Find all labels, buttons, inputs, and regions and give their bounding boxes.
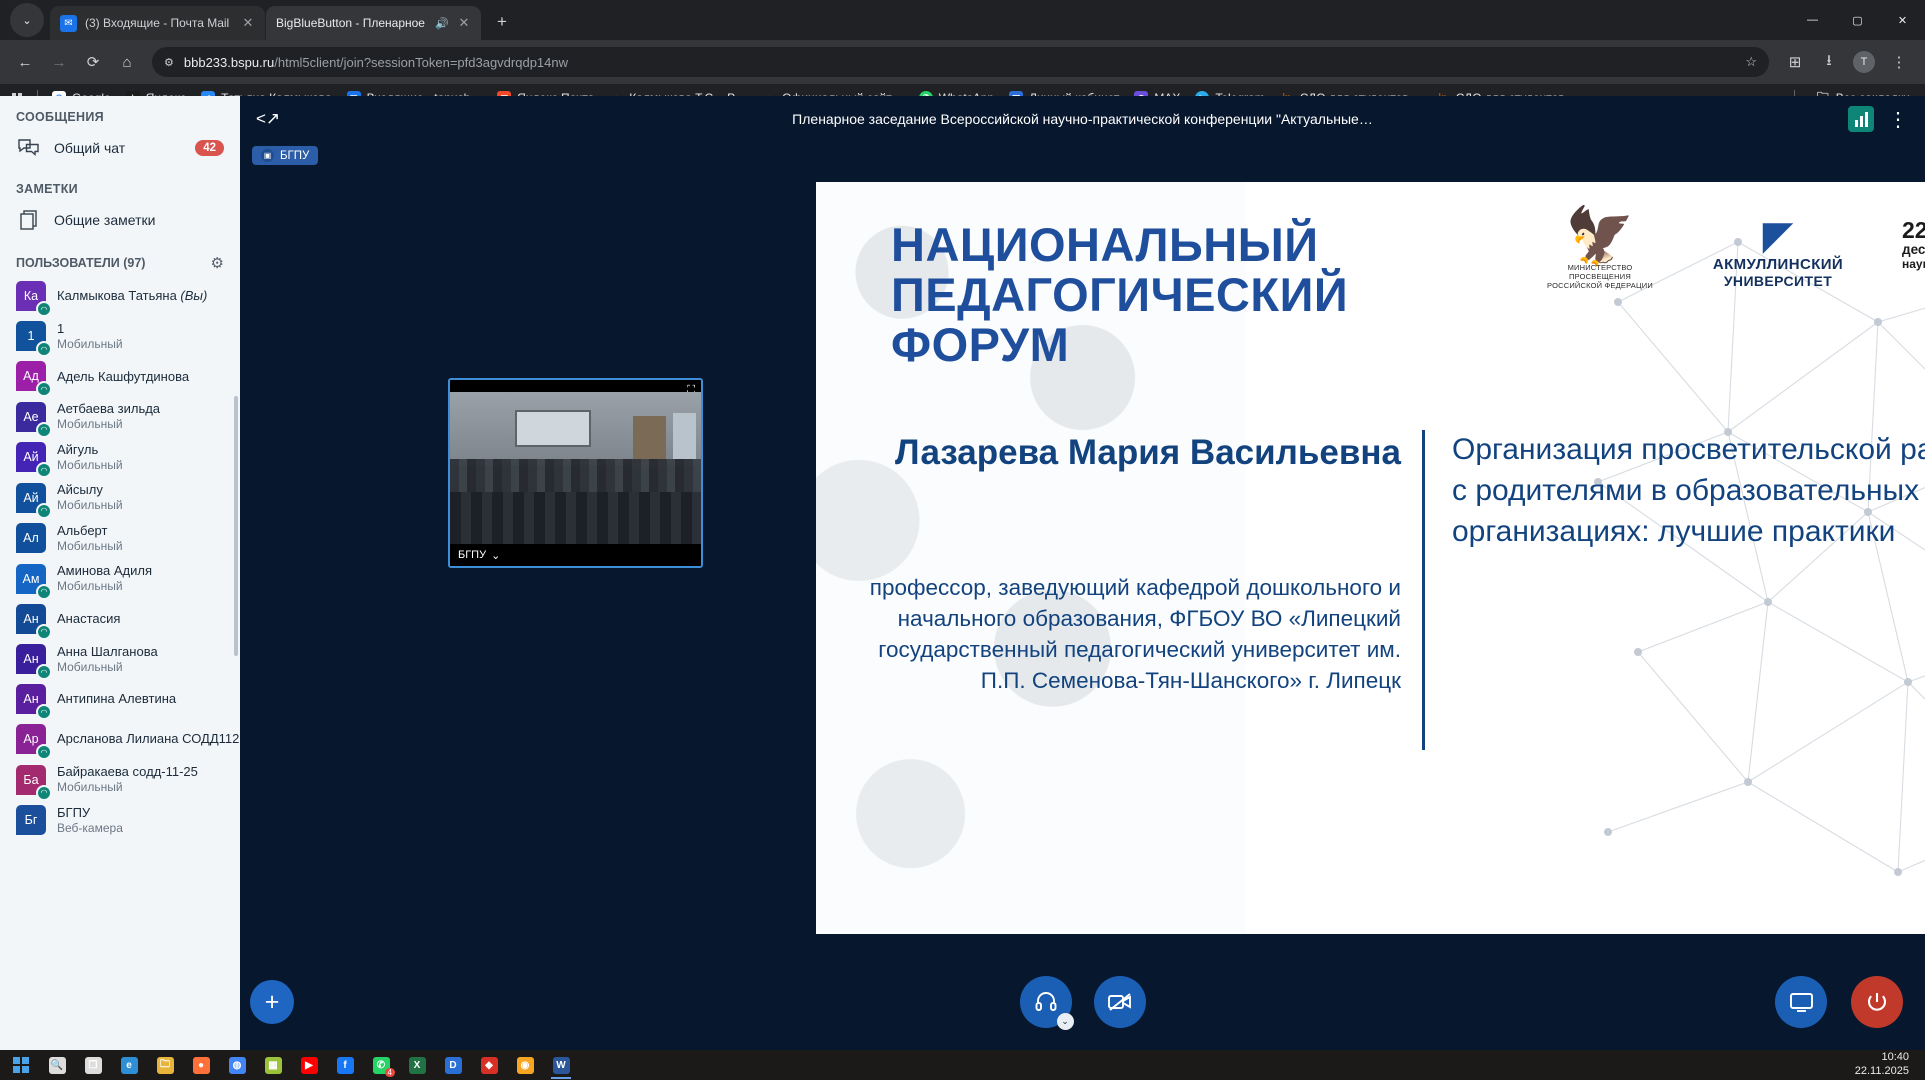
- search-icon-glyph: 🔍: [49, 1057, 66, 1074]
- tab-strip: ⌄ ✉ (3) Входящие - Почта Mail ✕ b BigBlu…: [0, 0, 1925, 40]
- user-info: Аетбаева зильдаМобильный: [57, 401, 160, 431]
- audio-button[interactable]: ⌄: [1020, 976, 1072, 1028]
- shared-notes-label: Общие заметки: [54, 212, 155, 228]
- decade-of-science-logo: 22 31 десятилетие науки и технологий: [1902, 210, 1925, 271]
- profile-avatar[interactable]: T: [1853, 51, 1875, 73]
- home-button[interactable]: ⌂: [112, 47, 142, 77]
- browser-icon[interactable]: ◉: [508, 1051, 542, 1079]
- user-info: Аминова АдиляМобильный: [57, 563, 152, 593]
- user-name: Антипина Алевтина: [57, 691, 176, 707]
- list-item[interactable]: Ай◠АйгульМобильный: [0, 437, 240, 477]
- sidebar-scrollbar[interactable]: [234, 396, 238, 656]
- presenter-name: БГПУ: [280, 150, 309, 162]
- unread-badge: 42: [195, 140, 224, 156]
- users-count-label: ПОЛЬЗОВАТЕЛИ (97): [16, 256, 145, 270]
- edge-icon[interactable]: e: [112, 1051, 146, 1079]
- browser-tab-bigbluebutton[interactable]: b BigBlueButton - Пленарное 🔊 ✕: [266, 6, 481, 40]
- akmulla-university-logo: ◤ АКМУЛЛИНСКИЙ УНИВЕРСИТЕТ: [1698, 210, 1858, 289]
- kebab-menu-icon[interactable]: ⋮: [1883, 47, 1915, 77]
- chat-bubbles-icon: [16, 135, 42, 161]
- user-info: Анна ШалгановаМобильный: [57, 644, 158, 674]
- excel-icon[interactable]: X: [400, 1051, 434, 1079]
- address-bar[interactable]: ⚙ bbb233.bspu.ru/html5client/join?sessio…: [152, 47, 1769, 77]
- user-name: Калмыкова Татьяна (Вы): [57, 288, 207, 304]
- list-item[interactable]: БгБГПУВеб-камера: [0, 800, 240, 840]
- chrome-icon-glyph: ◍: [229, 1057, 246, 1074]
- avatar: Ам◠: [16, 564, 46, 594]
- user-connection-type: Мобильный: [57, 417, 160, 432]
- list-item[interactable]: Ан◠Анастасия: [0, 599, 240, 639]
- browser-icon-glyph: ◉: [517, 1057, 534, 1074]
- new-tab-button[interactable]: +: [488, 8, 516, 36]
- headset-icon: ◠: [36, 341, 52, 357]
- user-info: БГПУВеб-камера: [57, 805, 123, 835]
- notes-section-header: ЗАМЕТКИ: [0, 168, 240, 200]
- youtube-icon-glyph: ▶: [301, 1057, 318, 1074]
- decade-line-1: десятилетие: [1902, 242, 1925, 257]
- camera-button[interactable]: [1094, 976, 1146, 1028]
- user-name: Айсылу: [57, 482, 123, 498]
- user-name: 1: [57, 321, 123, 337]
- list-item[interactable]: Ае◠Аетбаева зильдаМобильный: [0, 396, 240, 436]
- user-name: Аетбаева зильда: [57, 401, 160, 417]
- webcam-top-strip: [450, 380, 701, 392]
- avatar: Ае◠: [16, 402, 46, 432]
- decade-years: 22 31: [1902, 220, 1925, 242]
- slide-title-line-3: ФОРУМ: [891, 320, 1348, 370]
- user-self-suffix: (Вы): [177, 288, 208, 303]
- user-name: Адель Кашфутдинова: [57, 369, 189, 385]
- user-connection-type: Мобильный: [57, 579, 152, 594]
- avatar: Бг: [16, 805, 46, 835]
- list-item[interactable]: Ай◠АйсылуМобильный: [0, 477, 240, 517]
- sidebar-item-shared-notes[interactable]: Общие заметки: [0, 200, 240, 240]
- headset-icon: ◠: [36, 301, 52, 317]
- sidebar-item-public-chat[interactable]: Общий чат 42: [0, 128, 240, 168]
- excel-icon-glyph: X: [409, 1057, 426, 1074]
- whatsapp-icon[interactable]: ✆4: [364, 1051, 398, 1079]
- headset-icon: ◠: [36, 744, 52, 760]
- user-info: Калмыкова Татьяна (Вы): [57, 288, 207, 304]
- bookmark-star-icon[interactable]: ☆: [1745, 54, 1757, 70]
- user-connection-type: Мобильный: [57, 498, 123, 513]
- headset-icon: ◠: [36, 704, 52, 720]
- tab-close-icon[interactable]: ✕: [457, 15, 471, 31]
- headset-icon: ◠: [36, 624, 52, 640]
- public-chat-label: Общий чат: [54, 140, 125, 156]
- task-view-icon-glyph: ❐: [85, 1057, 102, 1074]
- slide-speaker-name: Лазарева Мария Васильевна: [876, 432, 1401, 474]
- screen-root: ⌄ ✉ (3) Входящие - Почта Mail ✕ b BigBlu…: [0, 0, 1925, 1080]
- facebook-icon[interactable]: f: [328, 1051, 362, 1079]
- right-controls: [1775, 976, 1903, 1028]
- forward-button[interactable]: →: [44, 47, 74, 77]
- user-info: АльбертМобильный: [57, 523, 123, 553]
- user-name: Байракаева содд-11-25: [57, 764, 198, 780]
- dialog-icon-glyph: D: [445, 1057, 462, 1074]
- unknown-app-icon[interactable]: ◆: [472, 1051, 506, 1079]
- headset-icon: ◠: [36, 584, 52, 600]
- presentation-toggle-icon[interactable]: <↗: [256, 109, 280, 129]
- bbb-action-bar: + ⌄: [240, 934, 1925, 1050]
- url-text: bbb233.bspu.ru/html5client/join?sessionT…: [184, 55, 568, 70]
- list-item[interactable]: Ка◠Калмыкова Татьяна (Вы): [0, 276, 240, 316]
- slide-title-line-1: НАЦИОНАЛЬНЫЙ: [891, 220, 1348, 270]
- back-button[interactable]: ←: [10, 47, 40, 77]
- topbar-left-group: <↗: [256, 109, 280, 129]
- user-list[interactable]: Ка◠Калмыкова Татьяна (Вы)1◠1МобильныйАд◠…: [0, 276, 240, 1050]
- edge-icon-glyph: e: [121, 1057, 138, 1074]
- webcam-tile[interactable]: ⛶ БГПУ ⌄: [448, 378, 703, 568]
- room-projector-screen: [515, 410, 590, 446]
- youtube-icon[interactable]: ▶: [292, 1051, 326, 1079]
- room-window: [673, 413, 696, 459]
- user-info: АйсылуМобильный: [57, 482, 123, 512]
- download-icon[interactable]: ⭳: [1813, 47, 1845, 77]
- slide-topic: Организация просветительской работы с ро…: [1452, 430, 1925, 552]
- slide-divider: [1422, 430, 1425, 750]
- slide-speaker-description: профессор, заведующий кафедрой дошкольно…: [856, 572, 1401, 696]
- list-item[interactable]: Ан◠Анна ШалгановаМобильный: [0, 639, 240, 679]
- clock-time: 10:40: [1855, 1051, 1909, 1065]
- user-connection-type: Мобильный: [57, 337, 123, 352]
- avatar: Ан◠: [16, 644, 46, 674]
- user-info: Анастасия: [57, 611, 120, 627]
- task-view-icon[interactable]: ❐: [76, 1051, 110, 1079]
- user-name: Альберт: [57, 523, 123, 539]
- presenter-icon: ▣: [261, 149, 274, 162]
- present-screen-button[interactable]: [1775, 976, 1827, 1028]
- webcam-video: [450, 392, 701, 544]
- maximize-button[interactable]: ▢: [1835, 3, 1880, 37]
- headset-icon: ◠: [36, 422, 52, 438]
- slide-logos: 🦅 МИНИСТЕРСТВО ПРОСВЕЩЕНИЯ РОССИЙСКОЙ ФЕ…: [1546, 210, 1925, 291]
- user-connection-type: Веб-камера: [57, 821, 123, 836]
- user-info: Антипина Алевтина: [57, 691, 176, 707]
- clock-date: 22.11.2025: [1855, 1065, 1909, 1079]
- avatar: Ка◠: [16, 281, 46, 311]
- user-info: Адель Кашфутдинова: [57, 369, 189, 385]
- avatar: Ар◠: [16, 724, 46, 754]
- ministry-caption: МИНИСТЕРСТВО ПРОСВЕЩЕНИЯ РОССИЙСКОЙ ФЕДЕ…: [1546, 264, 1654, 291]
- word-icon[interactable]: W: [544, 1051, 578, 1079]
- search-icon[interactable]: 🔍: [40, 1051, 74, 1079]
- avatar: Ай◠: [16, 442, 46, 472]
- bbb-stage: <↗ Пленарное заседание Всероссийской нау…: [240, 96, 1925, 1050]
- room-audience-front: [450, 492, 701, 544]
- topbar-right-group: ⋮: [1848, 106, 1909, 132]
- tab-title: (3) Входящие - Почта Mail: [85, 16, 233, 30]
- ministry-logo: 🦅 МИНИСТЕРСТВО ПРОСВЕЩЕНИЯ РОССИЙСКОЙ ФЕ…: [1546, 210, 1654, 291]
- mail-icon: ✉: [60, 15, 77, 32]
- window-controls: — ▢ ✕: [1790, 0, 1925, 40]
- bigbluebutton-app: СООБЩЕНИЯ Общий чат 42 ЗАМЕТКИ: [0, 96, 1925, 1050]
- list-item[interactable]: Ба◠Байракаева содд-11-25Мобильный: [0, 759, 240, 799]
- meeting-title: Пленарное заседание Всероссийской научно…: [240, 111, 1925, 127]
- slide-title: НАЦИОНАЛЬНЫЙ ПЕДАГОГИЧЕСКИЙ ФОРУМ: [891, 220, 1348, 369]
- minimize-button[interactable]: —: [1790, 3, 1835, 37]
- user-connection-type: Мобильный: [57, 660, 158, 675]
- akmulla-mark-icon: ◤: [1698, 216, 1858, 256]
- user-name: Арсланова Лилиана СОДД1125: [57, 731, 224, 747]
- bbb-sidebar: СООБЩЕНИЯ Общий чат 42 ЗАМЕТКИ: [0, 96, 240, 1050]
- start-button[interactable]: [4, 1051, 38, 1079]
- webcam-name-bar[interactable]: БГПУ ⌄: [450, 544, 701, 566]
- tab-search-chevron-icon[interactable]: ⌄: [10, 3, 44, 37]
- dialog-icon[interactable]: D: [436, 1051, 470, 1079]
- akmulla-line-2: УНИВЕРСИТЕТ: [1698, 273, 1858, 289]
- extensions-icon[interactable]: ⊞: [1779, 47, 1811, 77]
- slide-title-line-2: ПЕДАГОГИЧЕСКИЙ: [891, 270, 1348, 320]
- close-window-button[interactable]: ✕: [1880, 3, 1925, 37]
- akmulla-line-1: АКМУЛЛИНСКИЙ: [1698, 256, 1858, 273]
- taskbar-clock[interactable]: 10:40 22.11.2025: [1855, 1051, 1921, 1079]
- presenter-pill: ▣ БГПУ: [252, 146, 318, 165]
- gear-icon[interactable]: ⚙: [211, 254, 224, 272]
- user-info: Байракаева содд-11-25Мобильный: [57, 764, 198, 794]
- firefox-icon-glyph: ●: [193, 1057, 210, 1074]
- user-name: Анна Шалганова: [57, 644, 158, 660]
- headset-icon: ◠: [36, 785, 52, 801]
- decade-line-2: науки и технологий: [1902, 257, 1925, 271]
- chrome-icon[interactable]: ◍: [220, 1051, 254, 1079]
- tab-close-icon[interactable]: ✕: [241, 15, 255, 31]
- user-info: Арсланова Лилиана СОДД1125: [57, 731, 224, 747]
- slide-content: НАЦИОНАЛЬНЫЙ ПЕДАГОГИЧЕСКИЙ ФОРУМ 🦅 МИНИ…: [816, 182, 1925, 934]
- tab-audio-icon[interactable]: 🔊: [435, 17, 449, 30]
- kebab-menu-icon[interactable]: ⋮: [1888, 107, 1909, 132]
- center-controls: ⌄: [1020, 976, 1146, 1028]
- user-name: Айгуль: [57, 442, 123, 458]
- user-connection-type: Мобильный: [57, 539, 123, 554]
- url-host: bbb233.bspu.ru: [184, 55, 274, 70]
- users-section-header: ПОЛЬЗОВАТЕЛИ (97) ⚙: [0, 240, 240, 276]
- avatar: Ба◠: [16, 765, 46, 795]
- store-icon[interactable]: ▦: [256, 1051, 290, 1079]
- site-settings-icon[interactable]: ⚙: [164, 56, 174, 69]
- headset-icon: ◠: [36, 381, 52, 397]
- notes-icon: [16, 207, 42, 233]
- file-explorer-icon-glyph: 🗀: [157, 1057, 174, 1074]
- avatar: Ан◠: [16, 684, 46, 714]
- reload-button[interactable]: ⟳: [78, 47, 108, 77]
- user-connection-type: Мобильный: [57, 780, 198, 795]
- omnibox-toolbar: ← → ⟳ ⌂ ⚙ bbb233.bspu.ru/html5client/joi…: [0, 40, 1925, 84]
- user-name: БГПУ: [57, 805, 123, 821]
- omnibox-actions: ⊞ ⭳ T ⋮: [1779, 47, 1915, 77]
- unknown-app-icon-glyph: ◆: [481, 1057, 498, 1074]
- leave-session-button[interactable]: [1851, 976, 1903, 1028]
- headset-icon: ◠: [36, 503, 52, 519]
- chevron-down-icon[interactable]: ⌄: [491, 549, 500, 562]
- store-icon-glyph: ▦: [265, 1057, 282, 1074]
- file-explorer-icon[interactable]: 🗀: [148, 1051, 182, 1079]
- avatar: Ан◠: [16, 604, 46, 634]
- messages-section-header: СООБЩЕНИЯ: [0, 96, 240, 128]
- avatar: Ай◠: [16, 483, 46, 513]
- user-info: 1Мобильный: [57, 321, 123, 351]
- double-headed-eagle-icon: 🦅: [1546, 210, 1654, 262]
- presentation-slide[interactable]: ⛶ НАЦИОНАЛЬНЫЙ ПЕДАГОГИЧЕСКИЙ ФОРУМ 🦅 МИ…: [816, 182, 1925, 934]
- url-path: /html5client/join?sessionToken=pfd3agvdr…: [274, 55, 568, 70]
- headset-icon: ◠: [36, 664, 52, 680]
- list-item[interactable]: Ад◠Адель Кашфутдинова: [0, 356, 240, 396]
- browser-tab-mail[interactable]: ✉ (3) Входящие - Почта Mail ✕: [50, 6, 265, 40]
- list-item[interactable]: Ам◠Аминова АдиляМобильный: [0, 558, 240, 598]
- avatar: Ал: [16, 523, 46, 553]
- list-item[interactable]: Ар◠Арсланова Лилиана СОДД1125: [0, 719, 240, 759]
- avatar: 1◠: [16, 321, 46, 351]
- user-name: Анастасия: [57, 611, 120, 627]
- audio-options-chevron-icon[interactable]: ⌄: [1057, 1013, 1074, 1030]
- headset-icon: ◠: [36, 462, 52, 478]
- actions-plus-button[interactable]: +: [250, 980, 294, 1024]
- user-info: АйгульМобильный: [57, 442, 123, 472]
- firefox-icon[interactable]: ●: [184, 1051, 218, 1079]
- user-connection-type: Мобильный: [57, 458, 123, 473]
- connection-status-icon[interactable]: [1848, 106, 1874, 132]
- list-item[interactable]: 1◠1Мобильный: [0, 316, 240, 356]
- word-icon-glyph: W: [553, 1057, 570, 1074]
- webcam-user-name: БГПУ: [458, 549, 486, 561]
- avatar: Ад◠: [16, 361, 46, 391]
- meeting-topbar: <↗ Пленарное заседание Всероссийской нау…: [240, 96, 1925, 142]
- notification-badge: 4: [385, 1068, 395, 1077]
- list-item[interactable]: АлАльбертМобильный: [0, 518, 240, 558]
- list-item[interactable]: Ан◠Антипина Алевтина: [0, 679, 240, 719]
- facebook-icon-glyph: f: [337, 1057, 354, 1074]
- browser-window: ⌄ ✉ (3) Входящие - Почта Mail ✕ b BigBlu…: [0, 0, 1925, 1050]
- user-name: Аминова Адиля: [57, 563, 152, 579]
- tab-title: BigBlueButton - Пленарное: [276, 16, 427, 30]
- taskbar-items: 🔍❐e🗀●◍▦▶f✆4XD◆◉W: [4, 1051, 578, 1079]
- windows-taskbar: 🔍❐e🗀●◍▦▶f✆4XD◆◉W 10:40 22.11.2025: [0, 1050, 1925, 1080]
